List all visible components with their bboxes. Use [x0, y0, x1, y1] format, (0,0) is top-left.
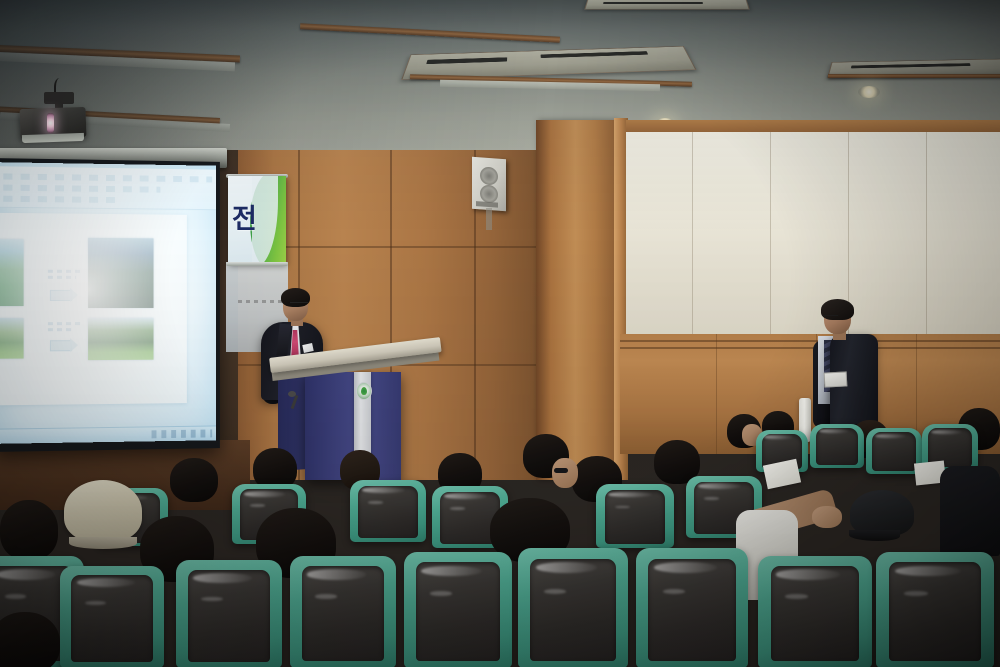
podium-emblem-icon: [356, 382, 372, 400]
slide-caption-4: [48, 328, 74, 331]
audience-face-profile: [552, 458, 578, 488]
slide-image-aerial-dark: [88, 238, 153, 308]
audience-sunglasses: [554, 468, 568, 473]
slide-caption-3: [48, 322, 80, 325]
slide-image-forest-after: [88, 318, 153, 360]
banner-subtext: [238, 300, 282, 303]
projection-screen: [0, 162, 216, 444]
slide-app-toolbar: [0, 166, 216, 210]
standing-attendee-name-badge: [824, 371, 848, 387]
slide-image-forest-before: [0, 318, 24, 359]
seat[interactable]: [518, 548, 628, 667]
slide-caption-1: [48, 270, 80, 273]
system-tray[interactable]: [152, 429, 213, 438]
banner-rod-bottom: [226, 262, 288, 266]
audience-dark-body: [940, 466, 1000, 556]
presenter-glasses: [290, 302, 308, 307]
seat[interactable]: [876, 552, 994, 667]
slide-arrow-2: [50, 340, 72, 351]
hanging-banner: 전: [228, 176, 286, 264]
slide-arrow-1: [50, 290, 72, 301]
seat[interactable]: [176, 560, 282, 667]
seat[interactable]: [758, 556, 872, 667]
audience-black-cap: [850, 490, 914, 536]
standing-attendee-glasses: [823, 315, 838, 319]
audience-head: [0, 500, 58, 560]
audience-hand: [812, 506, 842, 528]
audience-head: [170, 458, 218, 502]
seat[interactable]: [290, 556, 396, 667]
seat[interactable]: [596, 484, 674, 548]
slide-image-aerial-green: [0, 239, 24, 306]
podium-microphone-head: [288, 391, 296, 397]
seat[interactable]: [350, 480, 426, 542]
wall-speaker: [472, 157, 506, 211]
slide-canvas: [0, 213, 187, 405]
seat[interactable]: [810, 424, 864, 468]
projector-lens: [47, 113, 54, 133]
auditorium-photo: 전: [0, 0, 1000, 667]
slide-caption-2: [48, 276, 76, 279]
audience-beige-cap: [64, 480, 142, 542]
cream-acoustic-wall: [626, 132, 1000, 337]
banner-korean-character: 전: [232, 206, 257, 233]
wood-pillar: [536, 120, 618, 480]
speaker-mount: [486, 208, 492, 230]
seat[interactable]: [636, 548, 748, 667]
seat[interactable]: [404, 552, 512, 667]
seat[interactable]: [60, 566, 164, 667]
